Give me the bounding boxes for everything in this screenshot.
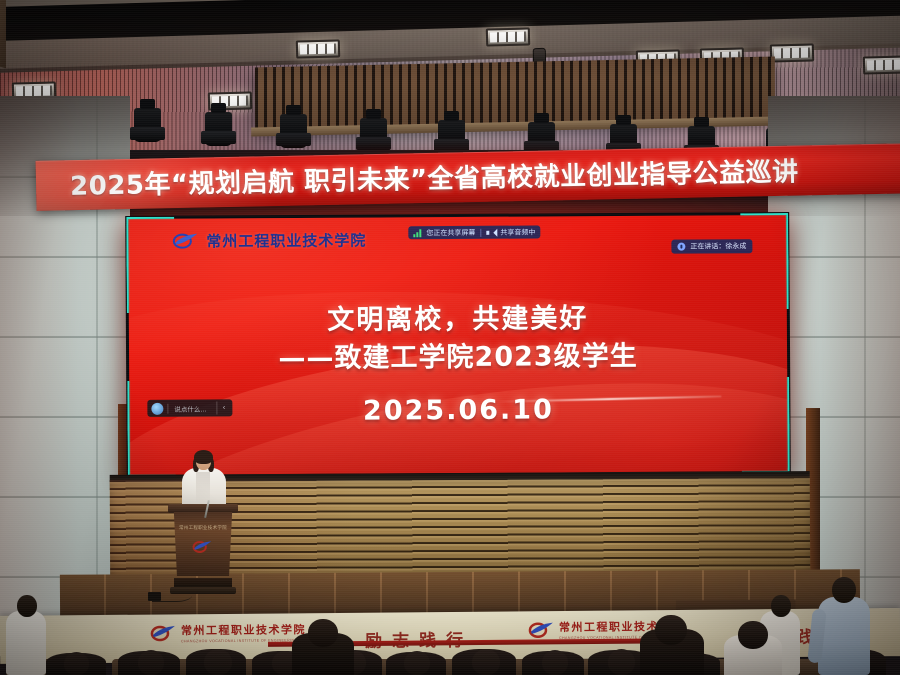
- standing-person-head: [17, 595, 37, 617]
- audience-member: [404, 651, 430, 675]
- audience-member: [138, 650, 164, 675]
- share-status-text: 您正在共享屏幕: [426, 227, 475, 237]
- lectern-top: [168, 504, 238, 513]
- stage-light-fixture: [438, 120, 465, 150]
- standing-person-head: [771, 595, 791, 617]
- standing-person-head: [832, 577, 856, 603]
- audience-member: [608, 649, 635, 675]
- stage-light-fixture: [360, 118, 387, 150]
- standing-person-body: [818, 597, 870, 675]
- auditorium-scene: 2025年“规划启航 职引未来”全省高校就业创业指导公益巡讲 常州工程职业技术学…: [0, 0, 900, 675]
- presenter-figure: [168, 452, 238, 512]
- audience-member: [64, 652, 89, 675]
- stage-light-fixture: [205, 112, 232, 146]
- meeting-share-indicator: 您正在共享屏幕 共享音频中: [408, 225, 540, 239]
- led-screen: 常州工程职业技术学院 您正在共享屏幕 共享音频中 正在讲话：徐永成 文明离校，共…: [125, 212, 791, 478]
- audience-member: [204, 649, 232, 675]
- active-speaker-text: 正在讲话：徐永成: [690, 241, 746, 251]
- ceiling: [0, 0, 900, 150]
- audience-member: [542, 650, 568, 675]
- recessed-ceiling-light: [486, 27, 530, 46]
- meeting-chat-toolbar[interactable]: 说点什么... ‹: [147, 399, 232, 417]
- audio-status-text: 共享音频中: [500, 227, 535, 237]
- audience-member: [472, 649, 500, 675]
- lectern-logo-icon: [192, 540, 212, 554]
- standing-person-body: [6, 611, 46, 675]
- divider: [480, 228, 481, 236]
- audience-seated-near-head: [738, 621, 768, 649]
- soffit-left-return: [0, 0, 6, 68]
- standing-person-right: [818, 571, 878, 675]
- slide-school-name: 常州工程职业技术学院: [206, 230, 366, 252]
- stage-light-fixture: [134, 108, 161, 142]
- microphone-icon: [677, 243, 685, 251]
- collapse-chevron-icon[interactable]: ‹: [217, 401, 231, 414]
- school-logo-icon: [172, 233, 198, 250]
- recessed-ceiling-light: [863, 55, 900, 74]
- chat-input[interactable]: 说点什么...: [167, 403, 212, 413]
- lectern-nameplate: 常州工程职业技术学院: [178, 525, 228, 531]
- floor-monitor-box: [148, 592, 161, 601]
- active-speaker-indicator: 正在讲话：徐永成: [671, 239, 752, 253]
- audience-seated-near-head: [655, 615, 687, 645]
- signal-bars-icon: [413, 229, 421, 237]
- stage-light-fixture: [528, 122, 555, 150]
- standing-person-left: [6, 605, 54, 675]
- stage-light-fixture: [610, 124, 637, 150]
- slide-subtitle: ——致建工学院2023级学生: [129, 333, 787, 376]
- audience-seated-near-head: [308, 619, 338, 647]
- presenter-hair: [194, 450, 213, 464]
- slide-school-logo: 常州工程职业技术学院: [172, 230, 366, 252]
- avatar: [151, 402, 163, 414]
- speaker-audio-icon: [486, 228, 495, 236]
- slide-title: 文明离校，共建美好: [129, 295, 787, 338]
- slide-surface: 常州工程职业技术学院 您正在共享屏幕 共享音频中 正在讲话：徐永成 文明离校，共…: [128, 215, 788, 475]
- recessed-ceiling-light: [296, 39, 340, 58]
- stage-light-fixture: [280, 114, 307, 148]
- recessed-ceiling-light: [770, 43, 814, 62]
